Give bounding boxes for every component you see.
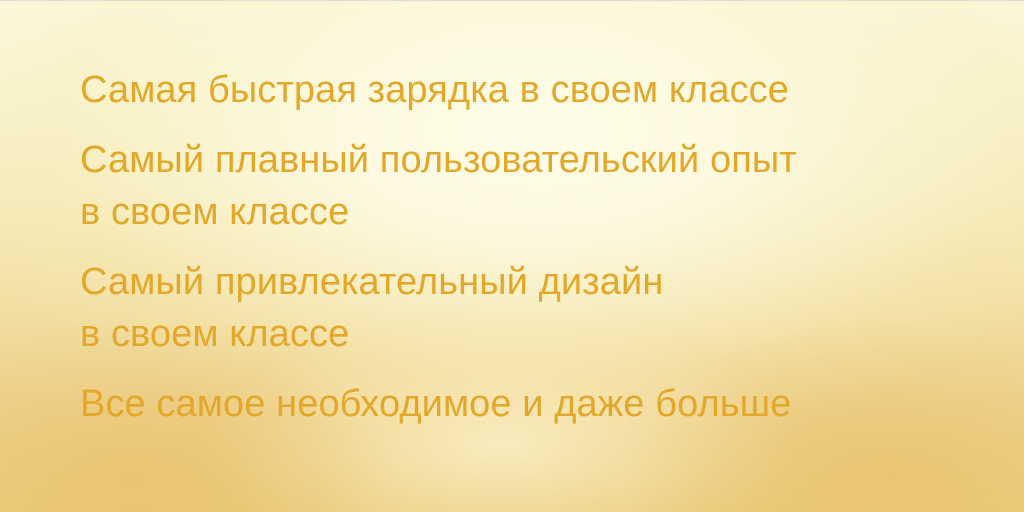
top-edge-divider [0,0,1024,2]
bullet-item-everything-and-more: Все самое необходимое и даже больше [80,378,964,430]
presentation-slide: Самая быстрая зарядка в своем классе Сам… [0,0,1024,512]
bullet-list: Самая быстрая зарядка в своем классе Сам… [80,64,964,430]
bullet-item-fastest-charging: Самая быстрая зарядка в своем классе [80,64,964,116]
bullet-item-most-attractive-design: Самый привлекательный дизайн в своем кла… [80,256,964,360]
bullet-item-smoothest-experience: Самый плавный пользовательский опыт в св… [80,134,964,238]
